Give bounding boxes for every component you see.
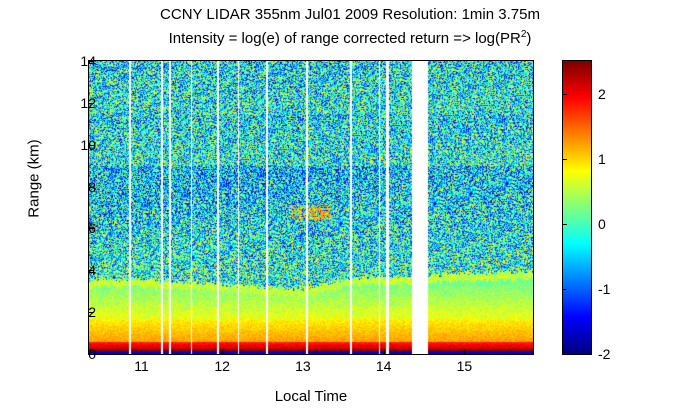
- y-axis-label: Range (km): [26, 69, 43, 289]
- x-axis-tick-label: 11: [134, 358, 149, 374]
- y-axis-tick-mark: [89, 145, 94, 146]
- x-axis-tick-mark: [464, 349, 465, 354]
- x-axis-tick-label: 12: [214, 358, 230, 374]
- x-axis-tick-mark: [222, 349, 223, 354]
- colorbar-gradient: [563, 61, 591, 354]
- x-axis-tick-mark: [384, 349, 385, 354]
- figure-title-line-1: CCNY LIDAR 355nm Jul01 2009 Resolution: …: [0, 6, 700, 23]
- x-axis-tick-label: 15: [457, 358, 473, 374]
- y-axis-tick-mark: [89, 61, 94, 62]
- colorbar[interactable]: [562, 60, 592, 355]
- x-axis-tick-label: 14: [376, 358, 392, 374]
- colorbar-tick-mark: [562, 289, 567, 290]
- heatmap-canvas: [89, 61, 533, 354]
- colorbar-tick-label: 1: [598, 151, 606, 167]
- colorbar-tick-mark: [562, 159, 567, 160]
- x-axis-tick-mark: [303, 349, 304, 354]
- x-axis-tick-label: 13: [295, 358, 311, 374]
- y-axis-tick-mark: [89, 354, 94, 355]
- title-line-2-post: ): [526, 30, 531, 47]
- figure-title-line-2: Intensity = log(e) of range corrected re…: [0, 29, 700, 47]
- colorbar-tick-label: -2: [598, 346, 610, 362]
- y-axis-tick-mark: [89, 187, 94, 188]
- title-line-2-pre: Intensity = log(e) of range corrected re…: [169, 30, 521, 47]
- colorbar-tick-mark: [562, 354, 567, 355]
- colorbar-tick-label: 0: [598, 216, 606, 232]
- y-axis-tick-mark: [89, 270, 94, 271]
- y-axis-tick-mark: [89, 312, 94, 313]
- colorbar-tick-mark: [562, 94, 567, 95]
- x-axis-tick-mark: [141, 349, 142, 354]
- y-axis-tick-mark: [89, 228, 94, 229]
- heatmap-plot-area[interactable]: [88, 60, 534, 355]
- colorbar-tick-label: -1: [598, 281, 610, 297]
- x-axis-label: Local Time: [88, 388, 534, 405]
- y-axis-tick-mark: [89, 103, 94, 104]
- lidar-figure: CCNY LIDAR 355nm Jul01 2009 Resolution: …: [0, 0, 700, 420]
- colorbar-tick-mark: [562, 224, 567, 225]
- colorbar-tick-label: 2: [598, 86, 606, 102]
